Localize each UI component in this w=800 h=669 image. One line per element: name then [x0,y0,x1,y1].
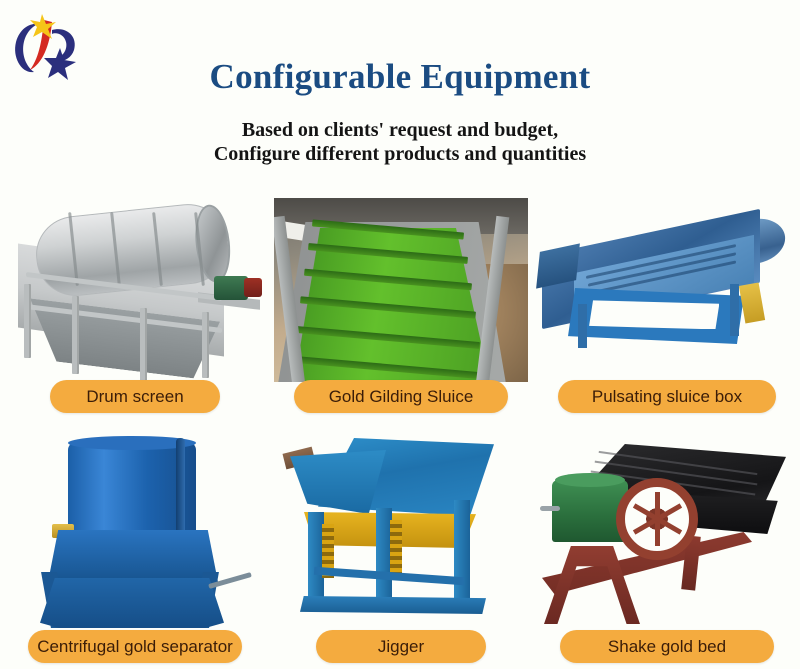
pulsating-sluice-box-photo [534,192,800,388]
product-card-drum-screen[interactable]: Drum screen [2,192,268,422]
subtitle-line-2: Configure different products and quantit… [0,142,800,166]
product-card-centrifugal-gold-separator[interactable]: Centrifugal gold separator [2,422,268,669]
product-card-jigger[interactable]: Jigger [268,422,534,669]
product-label-centrifugal-gold-separator[interactable]: Centrifugal gold separator [28,630,242,663]
product-card-shake-gold-bed[interactable]: Shake gold bed [534,422,800,669]
product-grid: Drum screen Gold Gilding Sluice [0,192,800,669]
jigger-photo [268,428,534,628]
page-title: Configurable Equipment [0,57,800,97]
product-label-pulsating-sluice-box[interactable]: Pulsating sluice box [558,380,776,413]
page-header: Configurable Equipment Based on clients'… [0,0,800,192]
shake-gold-bed-photo [534,428,800,628]
product-card-gold-gilding-sluice[interactable]: Gold Gilding Sluice [268,192,534,422]
product-label-jigger[interactable]: Jigger [316,630,486,663]
product-label-gold-gilding-sluice[interactable]: Gold Gilding Sluice [294,380,508,413]
centrifugal-gold-separator-photo [2,428,268,628]
product-label-shake-gold-bed[interactable]: Shake gold bed [560,630,774,663]
product-card-pulsating-sluice-box[interactable]: Pulsating sluice box [534,192,800,422]
product-label-drum-screen[interactable]: Drum screen [50,380,220,413]
subtitle-line-1: Based on clients' request and budget, [0,118,800,142]
gold-gilding-sluice-photo [268,192,534,388]
page-subtitle: Based on clients' request and budget, Co… [0,118,800,166]
drum-screen-photo [2,192,268,388]
